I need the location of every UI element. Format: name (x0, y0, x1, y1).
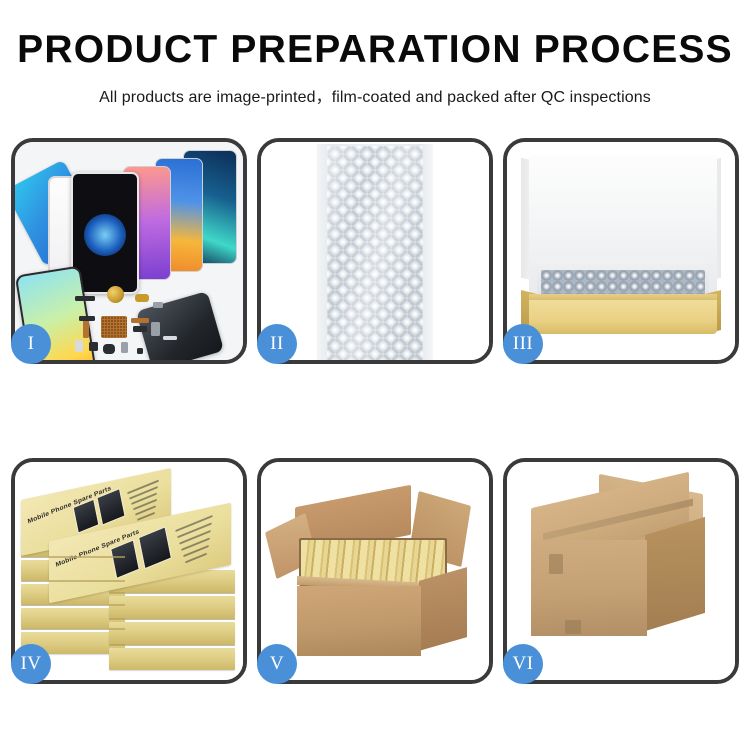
bubble-wrap-gloss (327, 146, 423, 360)
step-badge-6: VI (503, 644, 543, 684)
step-badge-2: II (257, 324, 297, 364)
step-badge-3: III (503, 324, 543, 364)
step-panel-4: Mobile Phone Spare Parts Mobile Phone (11, 458, 247, 684)
step-2-image (261, 142, 489, 360)
step-3-image (507, 142, 735, 360)
step-panel-2: II (257, 138, 493, 364)
page-subtitle: All products are image-printed，film-coat… (0, 83, 750, 107)
step-6-image (507, 462, 735, 680)
step-panel-3: III (503, 138, 739, 364)
step-badge-1: I (11, 324, 51, 364)
step-panel-6: VI (503, 458, 739, 684)
step-1-image (15, 142, 243, 360)
step-5-image (261, 462, 489, 680)
carton-tab-lower (565, 620, 581, 634)
carton-front-panel (297, 586, 421, 656)
mailer-box-illustration (507, 142, 735, 360)
carton-tab-upper (549, 554, 563, 574)
sealed-carton-illustration (507, 462, 735, 680)
carton-side-panel (419, 567, 467, 651)
bubble-wrap-illustration (261, 142, 489, 360)
product-preparation-infographic: PRODUCT PREPARATION PROCESS All products… (0, 0, 750, 750)
step-panel-1: I (11, 138, 247, 364)
boxes-stack-illustration: Mobile Phone Spare Parts Mobile Phone (21, 478, 243, 674)
step-4-image: Mobile Phone Spare Parts Mobile Phone (15, 462, 243, 680)
open-carton-illustration (261, 462, 489, 680)
mailer-front-panel (529, 300, 717, 334)
phone-products-illustration (15, 142, 243, 360)
step-panel-5: V (257, 458, 493, 684)
step-badge-5: V (257, 644, 297, 684)
sealed-carton-side-panel (645, 517, 705, 631)
step-badge-4: IV (11, 644, 51, 684)
spare-components-cluster (75, 292, 185, 360)
page-title: PRODUCT PREPARATION PROCESS (0, 30, 750, 69)
header: PRODUCT PREPARATION PROCESS All products… (0, 0, 750, 107)
process-steps-grid: I II (11, 138, 739, 684)
